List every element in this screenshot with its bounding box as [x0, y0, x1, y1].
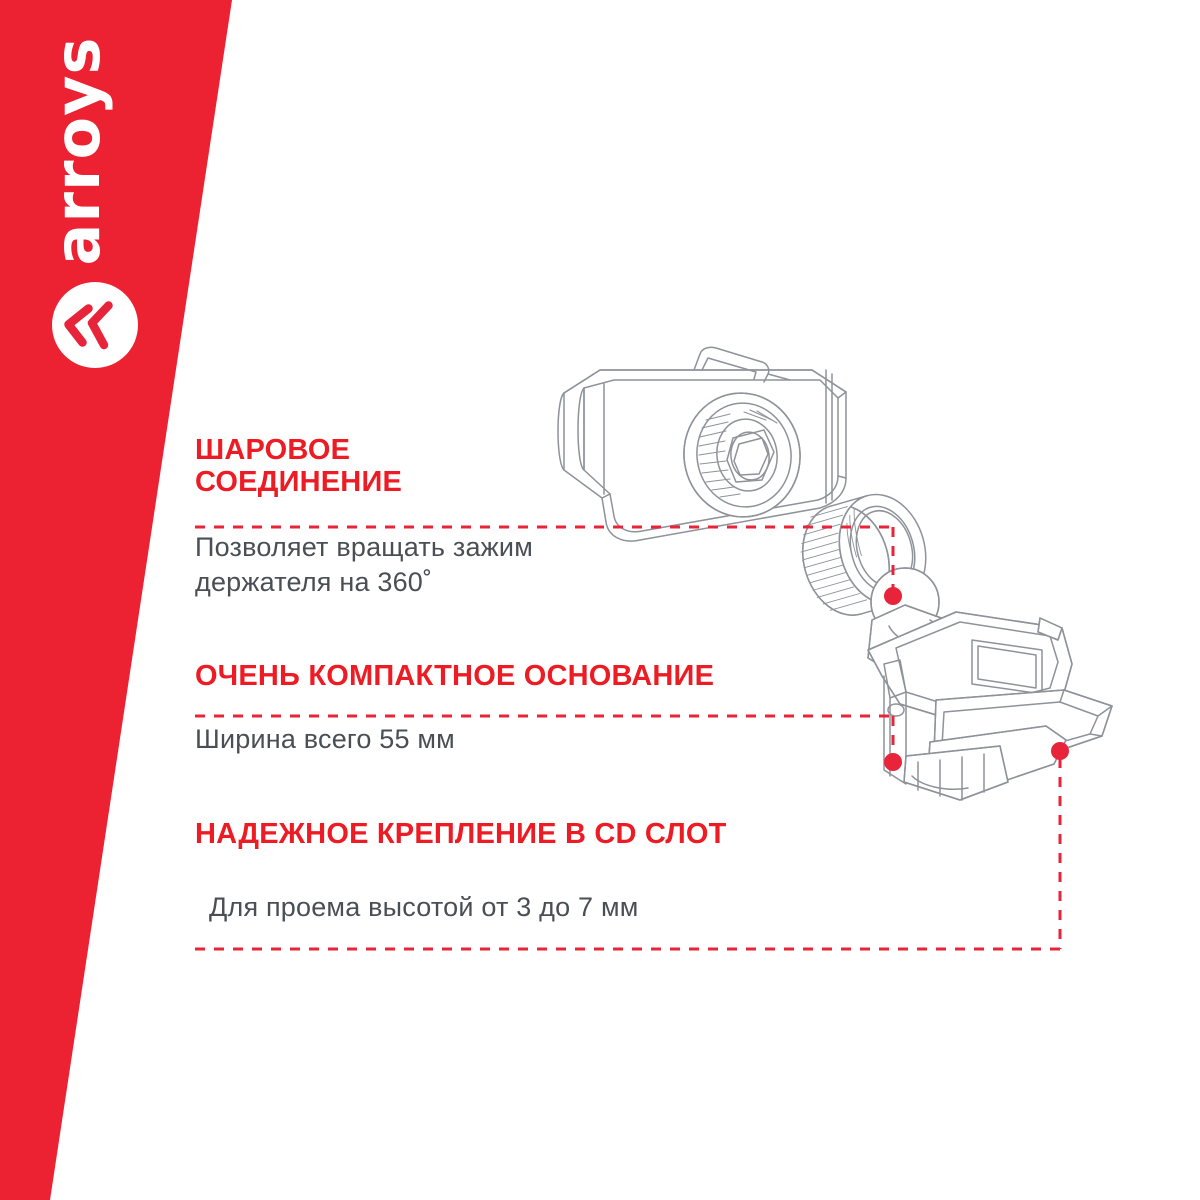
feature-subtitle-cd-slot: Для проема высотой от 3 до 7 мм: [209, 890, 727, 925]
feature-title-ball-joint: ШАРОВОЕ СОЕДИНЕНИЕ: [195, 434, 533, 499]
feature-title-cd-slot: НАДЕЖНОЕ КРЕПЛЕНИЕ В CD СЛОТ: [195, 818, 727, 850]
product-illustration: [0, 0, 1200, 1200]
feature-subtitle-compact-base: Ширина всего 55 мм: [195, 722, 714, 757]
feature-title-compact-base: ОЧЕНЬ КОМПАКТНОЕ ОСНОВАНИЕ: [195, 660, 714, 692]
feature-block-compact-base: ОЧЕНЬ КОМПАКТНОЕ ОСНОВАНИЕ Ширина всего …: [195, 660, 714, 758]
infographic-canvas: arroys: [0, 0, 1200, 1200]
feature-subtitle-ball-joint: Позволяет вращать зажим держателя на 360…: [195, 530, 533, 600]
feature-block-ball-joint: ШАРОВОЕ СОЕДИНЕНИЕ Позволяет вращать заж…: [195, 434, 533, 600]
feature-block-cd-slot: НАДЕЖНОЕ КРЕПЛЕНИЕ В CD СЛОТ Для проема …: [195, 818, 727, 926]
